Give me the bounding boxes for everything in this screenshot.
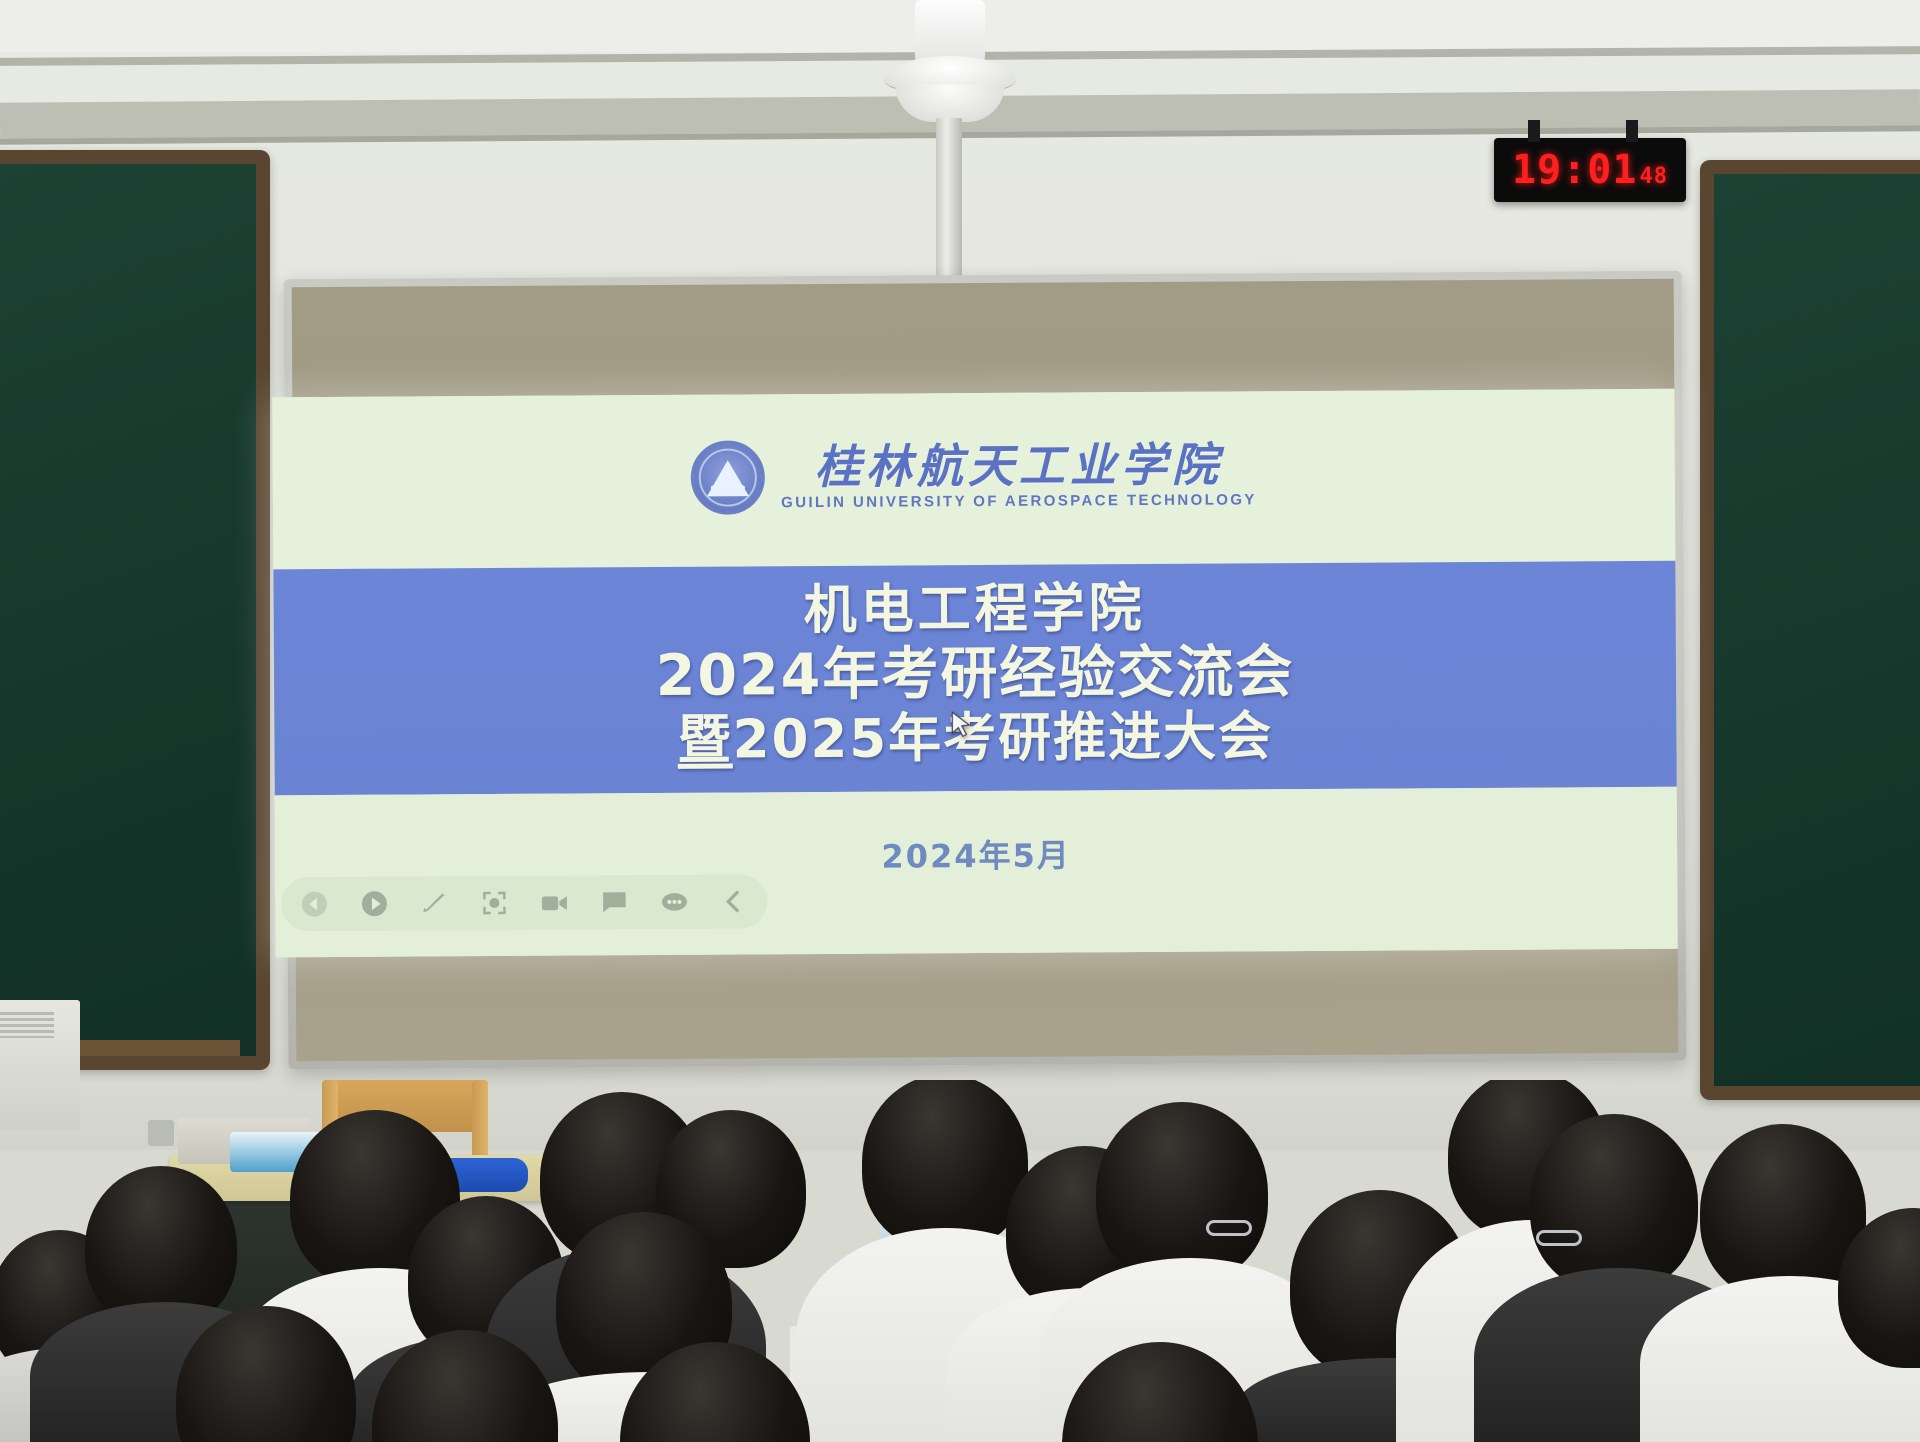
slide-title-block: 机电工程学院 2024年考研经验交流会 暨2025年考研推进大会 (273, 575, 1676, 774)
presentation-toolbar[interactable] (281, 874, 767, 931)
slide-title-line-3: 暨2025年考研推进大会 (274, 703, 1676, 774)
university-logo-text: 桂林航天工业学院 GUILIN UNIVERSITY OF AEROSPACE … (781, 441, 1257, 511)
previous-icon[interactable] (297, 887, 331, 921)
spotlight-icon[interactable] (477, 886, 511, 920)
cabinet-grill (0, 1012, 54, 1038)
digital-wall-clock: 19:0148 (1494, 138, 1686, 202)
slide-title-line-3-rest: 2025年考研推进大会 (732, 706, 1273, 770)
blackboard-left-surface (0, 164, 256, 1056)
whiteboard-surface: 桂林航天工业学院 GUILIN UNIVERSITY OF AEROSPACE … (292, 279, 1679, 1061)
clock-display: 19:0148 (1512, 147, 1668, 193)
audience-rows (0, 1080, 1920, 1442)
clock-bracket-left (1528, 120, 1540, 142)
play-icon[interactable] (357, 887, 391, 921)
slide-title-line-3-prefix: 暨 (677, 709, 732, 770)
audience-head (1096, 1102, 1268, 1284)
university-crest-icon (691, 440, 765, 514)
clock-hours-minutes: 19:01 (1512, 147, 1637, 193)
pen-icon[interactable] (417, 886, 451, 920)
audience-head (862, 1080, 1028, 1250)
clock-bracket-right (1626, 120, 1638, 142)
university-logo: 桂林航天工业学院 GUILIN UNIVERSITY OF AEROSPACE … (273, 435, 1675, 518)
projected-slide: 桂林航天工业学院 GUILIN UNIVERSITY OF AEROSPACE … (272, 389, 1677, 958)
whiteboard-frame: 桂林航天工业学院 GUILIN UNIVERSITY OF AEROSPACE … (284, 271, 1687, 1070)
projector-mount-pole (936, 118, 962, 288)
audience-head (1530, 1114, 1698, 1292)
video-camera-icon[interactable] (537, 886, 571, 920)
slide-title-line-2: 2024年考研经验交流会 (274, 637, 1676, 712)
university-name-chinese: 桂林航天工业学院 (815, 441, 1223, 492)
blackboard-right (1700, 160, 1920, 1100)
slide-date: 2024年5月 (275, 827, 1677, 882)
crest-inner-ring (699, 448, 757, 506)
eyeglasses (1536, 1230, 1582, 1246)
blackboard-left (0, 150, 270, 1070)
comment-icon[interactable] (597, 885, 631, 919)
eyeglasses (1206, 1220, 1252, 1236)
blackboard-right-surface (1714, 174, 1920, 1086)
more-icon[interactable] (657, 885, 691, 919)
university-name-english: GUILIN UNIVERSITY OF AEROSPACE TECHNOLOG… (781, 491, 1257, 511)
classroom-scene: BenQ 19:0148 桂林航天工业学院 GUI (0, 0, 1920, 1442)
back-chevron-icon[interactable] (717, 884, 751, 918)
clock-seconds: 48 (1639, 164, 1668, 189)
slide-title-line-1: 机电工程学院 (273, 575, 1675, 646)
